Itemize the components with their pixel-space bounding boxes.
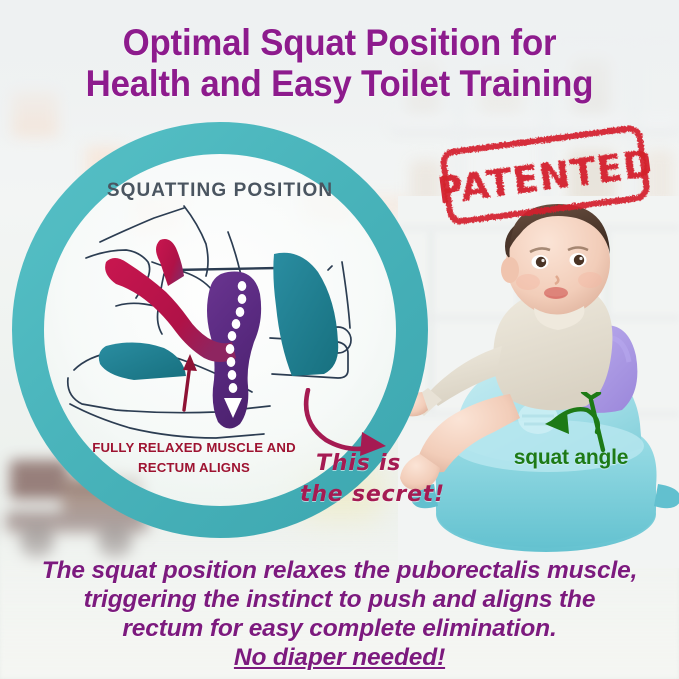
secret-annotation: This is the secret! [300, 448, 470, 510]
poster-title: Optimal Squat Position for Health and Ea… [20, 22, 658, 104]
diagram-caption-line-1: FULLY RELAXED MUSCLE AND [92, 440, 296, 455]
diagram-caption-line-2: RECTUM ALIGNS [138, 460, 250, 475]
squat-angle-arrow-icon [527, 392, 617, 454]
caption-line-2: triggering the instinct to push and alig… [14, 585, 665, 614]
diagram-heading: SQUATTING POSITION [107, 180, 333, 201]
title-line-1: Optimal Squat Position for [20, 22, 658, 63]
caption-line-4: No diaper needed! [14, 643, 665, 672]
title-line-2: Health and Easy Toilet Training [20, 63, 658, 104]
relax-arrow [183, 354, 197, 410]
secret-line-1: This is [300, 448, 470, 479]
squat-angle-label: squat angle [486, 446, 656, 470]
bottom-caption: The squat position relaxes the puborecta… [14, 556, 665, 672]
caption-line-1: The squat position relaxes the puborecta… [14, 556, 665, 585]
secret-line-2: the secret! [300, 479, 470, 510]
poster-image: Optimal Squat Position for Health and Ea… [0, 0, 679, 679]
caption-line-3: rectum for easy complete elimination. [14, 614, 665, 643]
baby-on-potty-photo [398, 196, 679, 568]
